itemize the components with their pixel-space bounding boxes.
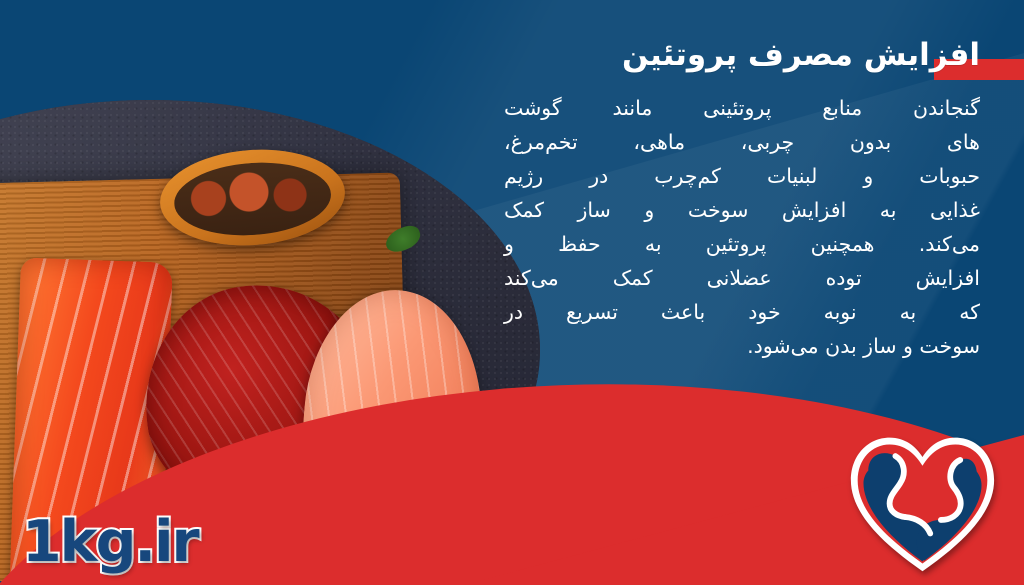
body-word: چربی، [741, 125, 794, 159]
body-word: در [589, 159, 608, 193]
body-word: خود [748, 295, 780, 329]
body-word: به [880, 193, 897, 227]
body-word: های [947, 125, 980, 159]
body-word: می‌کند [504, 261, 559, 295]
body-line-1: گنجاندنمنابعپروتئینیمانندگوشت [504, 91, 980, 125]
body-word: مانند [612, 91, 652, 125]
body-word: تسریع [566, 295, 618, 329]
body-word: سوخت [688, 193, 749, 227]
body-word: گنجاندن [913, 91, 980, 125]
body-text: گنجاندنمنابعپروتئینیمانندگوشت هایبدونچرب… [504, 91, 980, 363]
body-line-3: حبوباتولبنیاتکم‌چربدررژیم [504, 159, 980, 193]
body-word: کمک [504, 193, 544, 227]
body-word: باعث [661, 295, 705, 329]
body-word: پروتئین [706, 227, 767, 261]
body-word: عضلانی [707, 261, 772, 295]
body-word: گوشت [504, 91, 562, 125]
body-word: حبوبات [919, 159, 980, 193]
body-word: افزایش [916, 261, 980, 295]
body-word: ساز [578, 193, 611, 227]
body-word: و [863, 159, 873, 193]
body-word: تخم‌مرغ، [504, 125, 578, 159]
body-word: در [504, 295, 523, 329]
body-word: بدون [850, 125, 891, 159]
body-word: حفظ [558, 227, 601, 261]
body-word: و [644, 193, 654, 227]
body-word: افزایش [782, 193, 846, 227]
body-word: رژیم [504, 159, 543, 193]
body-word: نوبه [824, 295, 857, 329]
body-word: که [959, 295, 980, 329]
body-word: پروتئینی [703, 91, 771, 125]
body-word: به [645, 227, 662, 261]
body-line-6: افزایشتودهعضلانیکمکمی‌کند [504, 261, 980, 295]
body-word: لبنیات [767, 159, 817, 193]
body-word: کم‌چرب [654, 159, 721, 193]
body-word: همچنین [811, 227, 875, 261]
body-word: توده [826, 261, 862, 295]
body-word: و [504, 227, 514, 261]
body-word: غذایی [930, 193, 980, 227]
protein-banner: افزایش مصرف پروتئین گنجاندنمنابعپروتئینی… [0, 0, 1024, 585]
body-line-8: سوخت و ساز بدن می‌شود. [504, 329, 980, 363]
body-line-2: هایبدونچربی،ماهی،تخم‌مرغ، [504, 125, 980, 159]
page-title: افزایش مصرف پروتئین [504, 36, 980, 75]
body-line-4: غذاییبهافزایشسوختوسازکمک [504, 193, 980, 227]
site-watermark: 1kg.ir [22, 514, 198, 571]
body-word: کمک [613, 261, 653, 295]
body-word: ماهی، [633, 125, 685, 159]
heart-bicep-icon [845, 428, 1000, 578]
body-line-5: می‌کند.همچنینپروتئینبهحفظو [504, 227, 980, 261]
body-line-7: کهبهنوبهخودباعثتسریعدر [504, 295, 980, 329]
body-word: به [900, 295, 917, 329]
body-word: می‌کند. [919, 227, 980, 261]
body-word: منابع [822, 91, 862, 125]
